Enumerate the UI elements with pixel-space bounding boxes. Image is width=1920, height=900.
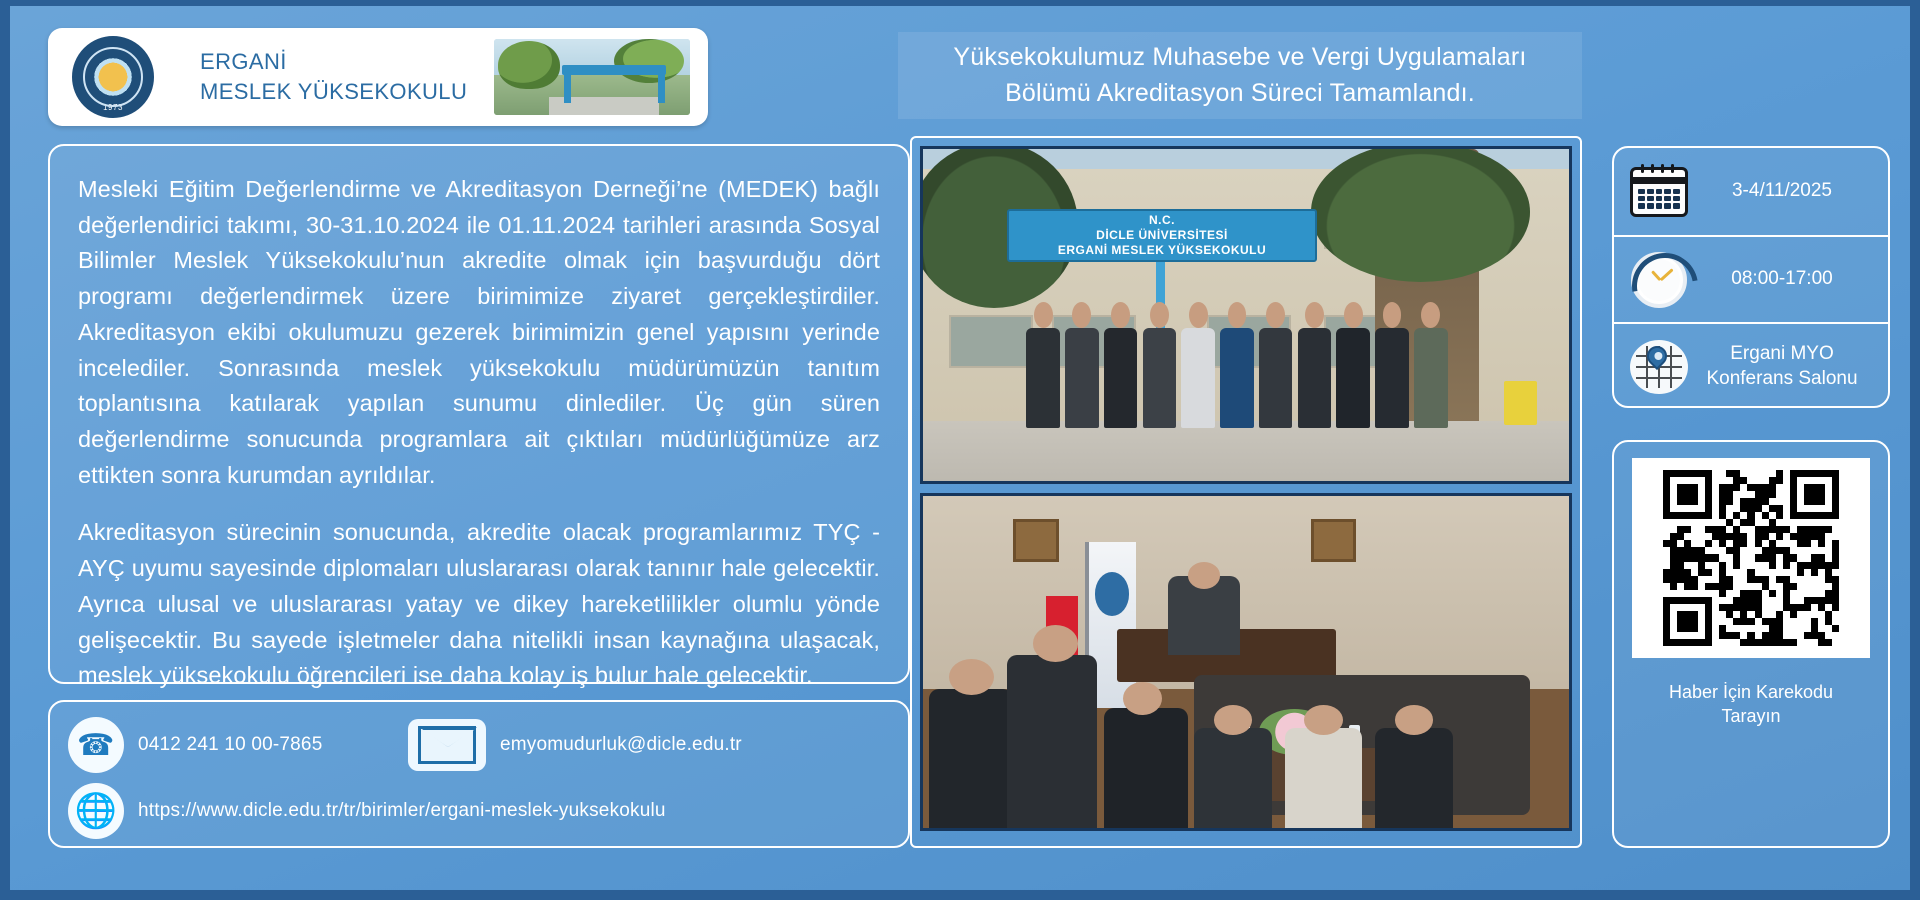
contact-phone[interactable]: ☎ 0412 241 10 00-7865: [68, 717, 408, 773]
globe-icon: 🌐: [68, 783, 124, 839]
event-location: Ergani MYO Konferans Salonu: [1692, 342, 1878, 391]
university-seal-icon: 1973: [72, 36, 154, 118]
calendar-icon: [1626, 163, 1692, 221]
qr-caption: Haber İçin Karekodu Tarayın: [1669, 680, 1833, 729]
info-row-location: Ergani MYO Konferans Salonu: [1614, 322, 1888, 409]
contact-email[interactable]: emyomudurluk@dicle.edu.tr: [408, 719, 742, 771]
mail-icon: [408, 719, 486, 771]
event-date: 3-4/11/2025: [1692, 179, 1878, 204]
event-time: 08:00-17:00: [1692, 267, 1878, 292]
building-sign: N.C. DİCLE ÜNİVERSİTESİ ERGANİ MESLEK YÜ…: [1007, 209, 1317, 262]
photo-gallery: N.C. DİCLE ÜNİVERSİTESİ ERGANİ MESLEK YÜ…: [910, 136, 1582, 848]
page-title: Yüksekokulumuz Muhasebe ve Vergi Uygulam…: [898, 32, 1582, 119]
qr-code-icon[interactable]: [1632, 458, 1870, 658]
info-row-date: 3-4/11/2025: [1614, 148, 1888, 235]
qr-panel: Haber İçin Karekodu Tarayın: [1612, 440, 1890, 848]
photo-group-outside: N.C. DİCLE ÜNİVERSİTESİ ERGANİ MESLEK YÜ…: [920, 146, 1572, 484]
contact-phone-text: 0412 241 10 00-7865: [138, 734, 322, 756]
event-info-panel: 3-4/11/2025 08:00-17:00 Ergani MYO Konfe…: [1612, 146, 1890, 408]
clock-icon: [1626, 251, 1692, 309]
article-paragraph-2: Akreditasyon sürecinin sonucunda, akredi…: [78, 515, 880, 694]
phone-icon: ☎: [68, 717, 124, 773]
map-pin-icon: [1626, 338, 1692, 396]
info-row-time: 08:00-17:00: [1614, 235, 1888, 322]
article-body: Mesleki Eğitim Değerlendirme ve Akredita…: [48, 144, 910, 684]
institution-header-bar: 1973 ERGANİ MESLEK YÜKSEKOKULU: [48, 28, 708, 126]
contact-email-text: emyomudurluk@dicle.edu.tr: [500, 734, 742, 756]
poster-canvas: 1973 ERGANİ MESLEK YÜKSEKOKULU Yüksekoku…: [0, 0, 1920, 900]
contact-website-text: https://www.dicle.edu.tr/tr/birimler/erg…: [138, 800, 666, 822]
photo-meeting-room: [920, 493, 1572, 831]
institution-name: ERGANİ MESLEK YÜKSEKOKULU: [200, 47, 467, 106]
seal-year-label: 1973: [74, 103, 152, 112]
contact-website[interactable]: 🌐 https://www.dicle.edu.tr/tr/birimler/e…: [68, 783, 666, 839]
article-paragraph-1: Mesleki Eğitim Değerlendirme ve Akredita…: [78, 172, 880, 493]
contact-panel: ☎ 0412 241 10 00-7865 emyomudurluk@dicle…: [48, 700, 910, 848]
campus-gate-photo: [494, 39, 690, 115]
